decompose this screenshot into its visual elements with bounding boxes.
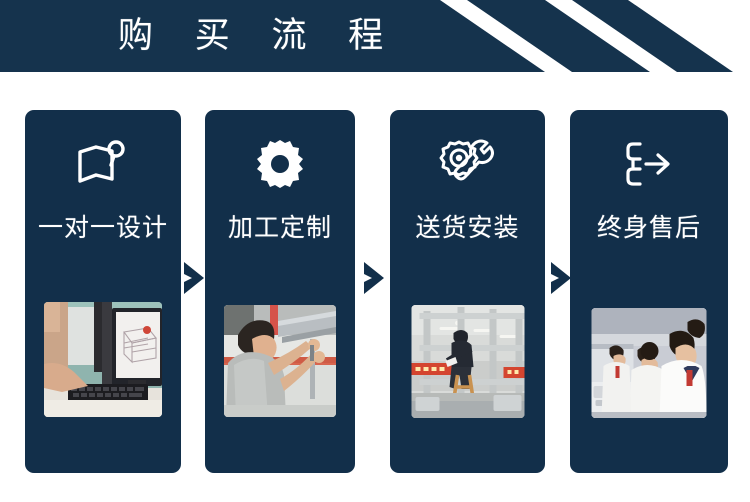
chevron-right-icon [547, 258, 577, 298]
banner-header: 购 买 流 程 [0, 0, 750, 72]
process-step-photo [44, 302, 162, 417]
chevron-right-icon [180, 258, 210, 298]
phone-arrow-support-icon [570, 128, 728, 200]
process-step-card-3[interactable]: 送货安装 [390, 110, 545, 473]
process-step-label: 一对一设计 [25, 213, 181, 243]
purchase-process-banner: 购 买 流 程 一对一设计 [0, 0, 750, 502]
chevron-arrow-3 [547, 258, 577, 298]
process-step-card-1[interactable]: 一对一设计 [25, 110, 181, 473]
chevron-arrow-2 [360, 258, 390, 298]
process-step-photo [592, 308, 707, 418]
process-step-photo [411, 305, 524, 418]
gear-icon [205, 128, 355, 200]
process-step-label: 终身售后 [570, 213, 728, 243]
chevron-right-icon [360, 258, 390, 298]
page-title: 购 买 流 程 [118, 14, 399, 58]
process-step-photo [224, 305, 336, 417]
process-step-label: 送货安装 [390, 213, 545, 243]
process-step-label: 加工定制 [205, 213, 355, 243]
process-step-card-4[interactable]: 终身售后 [570, 110, 728, 473]
gear-wrench-icon [390, 128, 545, 200]
map-pin-design-icon [25, 128, 181, 200]
process-step-card-2[interactable]: 加工定制 [205, 110, 355, 473]
chevron-arrow-1 [180, 258, 210, 298]
